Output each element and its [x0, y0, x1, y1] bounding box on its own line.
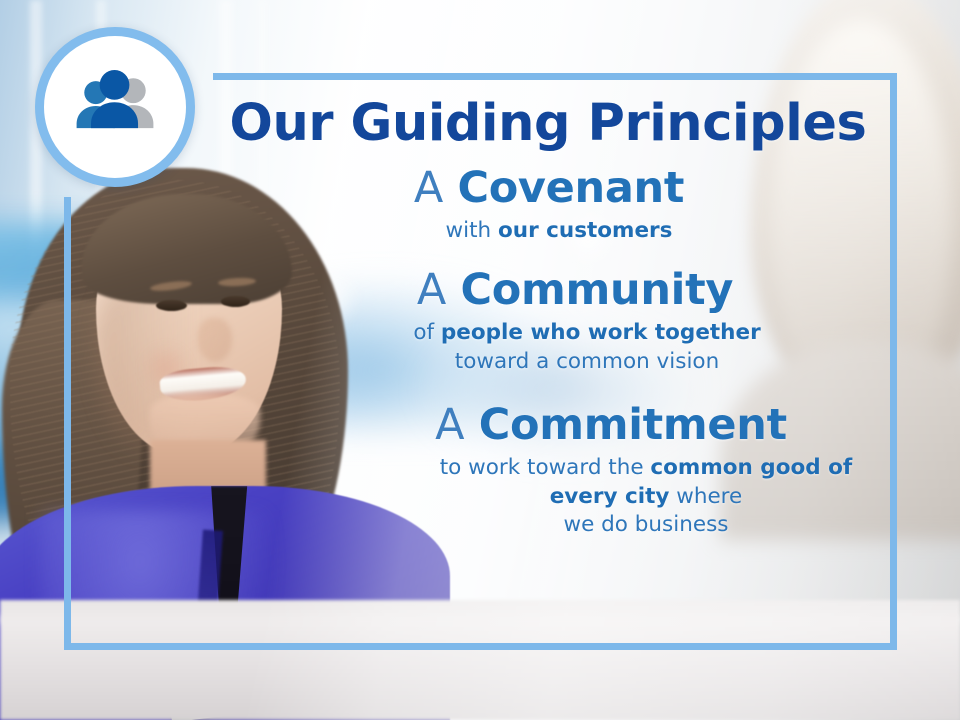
principle-article: A: [417, 265, 447, 315]
principle-subtext: with our customers: [232, 217, 886, 246]
principle-keyword: Covenant: [457, 163, 684, 213]
principle-subtext-prefix: to work toward the: [440, 455, 651, 480]
principle-subtext-prefix: with: [446, 218, 498, 243]
principle-subtext-bold: people who work together: [441, 320, 761, 345]
principle-subtext: to work toward the common good of every …: [406, 454, 886, 540]
page-title: Our Guiding Principles: [210, 80, 886, 150]
principle-article: A: [414, 163, 444, 213]
principle-keyword: Community: [461, 265, 734, 315]
principle-keyword: Commitment: [479, 400, 787, 450]
people-group-badge: [35, 27, 195, 187]
guiding-principles-banner: FLOW FLOW: [0, 0, 960, 720]
principle-subtext-line2: we do business: [406, 511, 886, 540]
principle-heading: A Covenant: [212, 164, 886, 212]
principle-subtext-prefix: of: [413, 320, 441, 345]
principle-block-covenant: A Covenant with our customers: [210, 164, 886, 246]
principle-subtext-line2: toward a common vision: [288, 348, 886, 377]
principle-subtext-suffix: where: [669, 484, 742, 509]
principle-subtext-bold: our customers: [498, 218, 672, 243]
principle-subtext: of people who work together toward a com…: [288, 319, 886, 377]
principle-heading: A Commitment: [336, 401, 886, 449]
principle-block-community: A Community of people who work together …: [210, 266, 886, 377]
principles-content: Our Guiding Principles A Covenant with o…: [210, 80, 886, 640]
people-group-icon: [67, 59, 163, 155]
employee-eye-left: [156, 300, 187, 311]
principle-article: A: [435, 400, 465, 450]
principle-block-commitment: A Commitment to work toward the common g…: [210, 401, 886, 541]
principle-heading: A Community: [264, 266, 886, 314]
